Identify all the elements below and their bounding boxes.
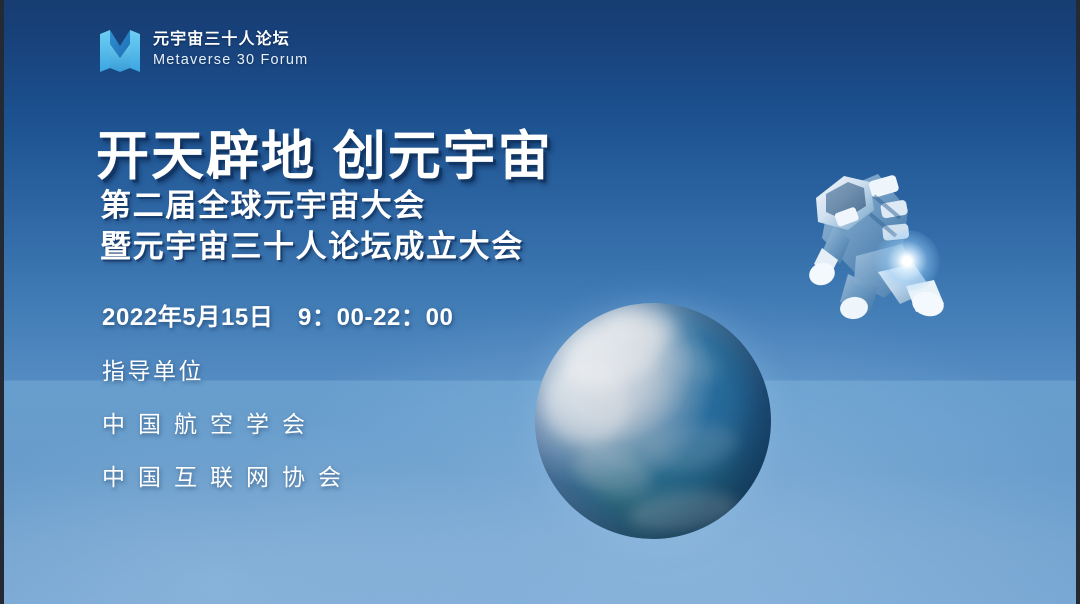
subtitle-line-1: 第二届全球元宇宙大会 <box>100 186 524 227</box>
brand-name-en: Metaverse 30 Forum <box>153 53 308 68</box>
metaverse-m-logo-icon <box>98 28 142 72</box>
globe-sphere <box>535 303 771 539</box>
event-datetime: 2022年5月15日 9：00-22：00 <box>102 306 453 330</box>
organizer-item: 中国互联网协会 <box>102 466 453 489</box>
organizer-item: 中国航空学会 <box>102 413 453 436</box>
page-title: 开天辟地 创元宇宙 <box>96 128 553 185</box>
astronaut-icon <box>782 152 950 324</box>
brand-logo-text: 元宇宙三十人论坛 Metaverse 30 Forum <box>153 32 308 68</box>
event-info: 2022年5月15日 9：00-22：00 指导单位 中国航空学会 中国互联网协… <box>102 306 453 489</box>
brand-name-cn: 元宇宙三十人论坛 <box>153 32 308 48</box>
globe-shading <box>535 303 771 539</box>
organizer-label: 指导单位 <box>102 360 453 383</box>
poster-canvas: 元宇宙三十人论坛 Metaverse 30 Forum 开天辟地 创元宇宙 第二… <box>0 0 1080 604</box>
brand-logo: 元宇宙三十人论坛 Metaverse 30 Forum <box>98 28 308 72</box>
subtitle-line-2: 暨元宇宙三十人论坛成立大会 <box>100 227 524 268</box>
earth-globe <box>535 303 771 539</box>
subtitle: 第二届全球元宇宙大会 暨元宇宙三十人论坛成立大会 <box>100 186 524 268</box>
